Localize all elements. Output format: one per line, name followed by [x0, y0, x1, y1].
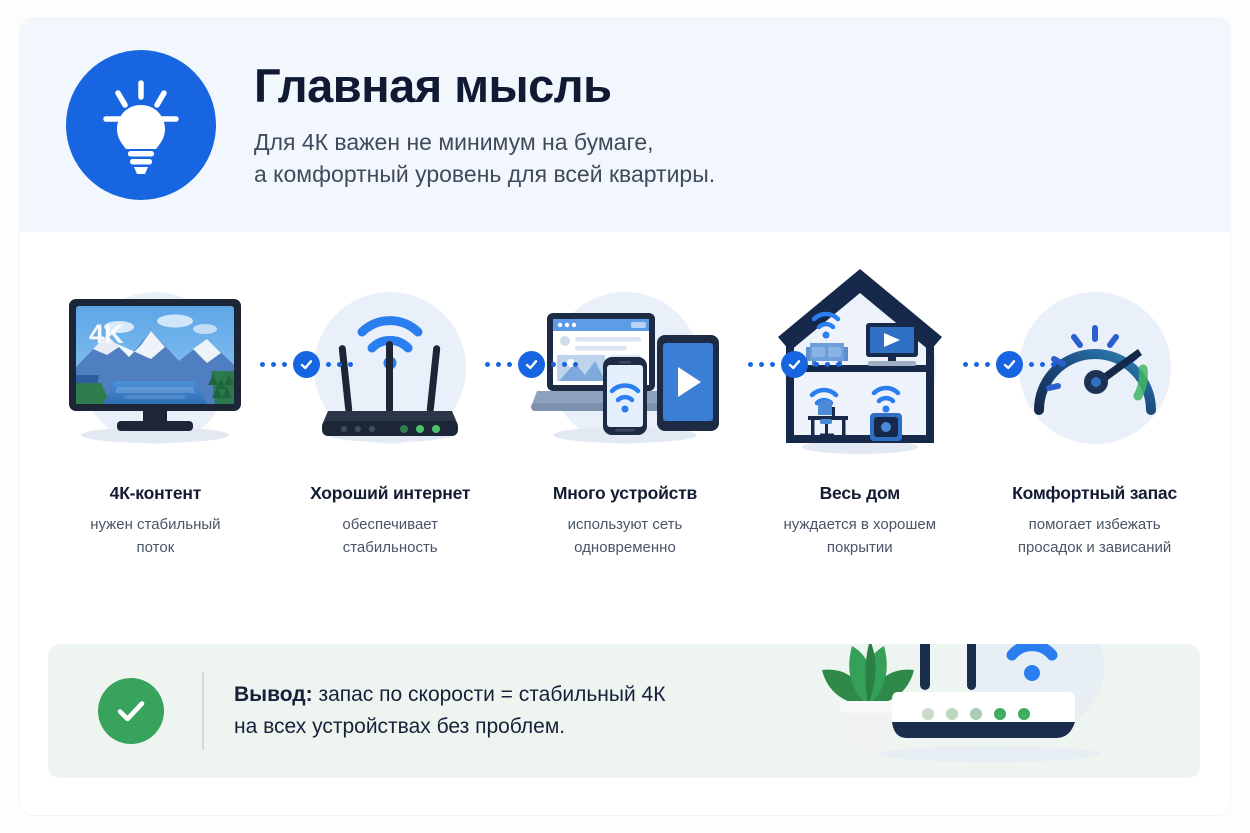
subtitle-line-2: а комфортный уровень для всей квартиры.	[254, 158, 715, 191]
step-desc-line-1: нуждается в хорошем	[783, 514, 936, 537]
infographic-page: Главная мысль Для 4К важен не минимум на…	[0, 0, 1250, 833]
lightbulb-icon	[66, 50, 216, 200]
step-description: помогает избежать просадок и зависаний	[1018, 514, 1171, 559]
step-many-devices: Много устройств используют сеть одноврем…	[508, 270, 743, 559]
step-label: 4К-контент	[110, 483, 201, 504]
dot	[814, 362, 819, 367]
dot	[759, 362, 764, 367]
dotted-line-right	[326, 362, 353, 367]
check-circle-icon	[518, 351, 545, 378]
conclusion-label: Вывод:	[234, 683, 313, 706]
dot	[551, 362, 556, 367]
step-desc-line-2: поток	[90, 537, 220, 560]
conclusion-line-1: Вывод: запас по скорости = стабильный 4К	[234, 679, 665, 711]
step-label: Много устройств	[553, 483, 697, 504]
step-desc-line-2: просадок и зависаний	[1018, 537, 1171, 560]
dot	[260, 362, 265, 367]
step-label: Весь дом	[820, 483, 900, 504]
dot	[573, 362, 578, 367]
dotted-line-right	[1029, 362, 1056, 367]
step-desc-line-2: стабильность	[342, 537, 438, 560]
dot	[748, 362, 753, 367]
step-whole-house: Весь дом нуждается в хорошем покрытии	[742, 270, 977, 559]
step-desc-line-1: используют сеть	[568, 514, 683, 537]
conclusion-text: Вывод: запас по скорости = стабильный 4К…	[234, 679, 665, 743]
dot	[974, 362, 979, 367]
router-plant-icon	[780, 644, 1200, 778]
header-subtitle: Для 4К важен не минимум на бумаге, а ком…	[254, 126, 715, 191]
dot	[562, 362, 567, 367]
dot	[348, 362, 353, 367]
dot	[770, 362, 775, 367]
dot	[1051, 362, 1056, 367]
step-description: обеспечивает стабильность	[342, 514, 438, 559]
connector-3	[748, 351, 841, 378]
dot	[337, 362, 342, 367]
dot	[1029, 362, 1034, 367]
step-description: нуждается в хорошем покрытии	[783, 514, 936, 559]
page-title: Главная мысль	[254, 61, 715, 112]
infographic-card: Главная мысль Для 4К важен не минимум на…	[20, 18, 1230, 815]
dot	[825, 362, 830, 367]
steps-row: 4K 4К-контент нужен стабильный поток	[20, 232, 1230, 622]
dotted-line-left	[748, 362, 775, 367]
step-desc-line-1: помогает избежать	[1018, 514, 1171, 537]
connector-2	[485, 351, 578, 378]
dot	[282, 362, 287, 367]
dot	[507, 362, 512, 367]
step-good-internet: Хороший интернет обеспечивает стабильнос…	[273, 270, 508, 559]
conclusion-bar: Вывод: запас по скорости = стабильный 4К…	[48, 644, 1200, 778]
check-circle-icon	[293, 351, 320, 378]
step-label: Хороший интернет	[310, 483, 470, 504]
dot	[271, 362, 276, 367]
step-description: нужен стабильный поток	[90, 514, 220, 559]
step-description: используют сеть одновременно	[568, 514, 683, 559]
tv-4k-icon: 4K	[50, 270, 260, 465]
tv-4k-badge-text: 4K	[89, 319, 124, 349]
conclusion-line-2: на всех устройствах без проблем.	[234, 711, 665, 743]
header-text-block: Главная мысль Для 4К важен не минимум на…	[254, 59, 715, 191]
check-circle-icon	[781, 351, 808, 378]
dot	[485, 362, 490, 367]
dot	[963, 362, 968, 367]
dot	[326, 362, 331, 367]
dotted-line-left	[260, 362, 287, 367]
step-desc-line-2: покрытии	[783, 537, 936, 560]
step-desc-line-2: одновременно	[568, 537, 683, 560]
divider	[202, 672, 204, 750]
step-label: Комфортный запас	[1012, 483, 1177, 504]
connector-1	[260, 351, 353, 378]
step-4k-content: 4K 4К-контент нужен стабильный поток	[38, 270, 273, 559]
subtitle-line-1: Для 4К важен не минимум на бумаге,	[254, 126, 715, 159]
dot	[496, 362, 501, 367]
dot	[1040, 362, 1045, 367]
check-circle-icon	[996, 351, 1023, 378]
step-comfort-margin: Комфортный запас помогает избежать проса…	[977, 270, 1212, 559]
dot	[836, 362, 841, 367]
check-circle-icon	[98, 678, 164, 744]
dotted-line-right	[551, 362, 578, 367]
dotted-line-right	[814, 362, 841, 367]
connector-4	[963, 351, 1056, 378]
conclusion-line-1-rest: запас по скорости = стабильный 4К	[313, 683, 666, 706]
step-desc-line-1: нужен стабильный	[90, 514, 220, 537]
step-desc-line-1: обеспечивает	[342, 514, 438, 537]
header-banner: Главная мысль Для 4К важен не минимум на…	[20, 18, 1230, 232]
dotted-line-left	[963, 362, 990, 367]
dotted-line-left	[485, 362, 512, 367]
dot	[985, 362, 990, 367]
